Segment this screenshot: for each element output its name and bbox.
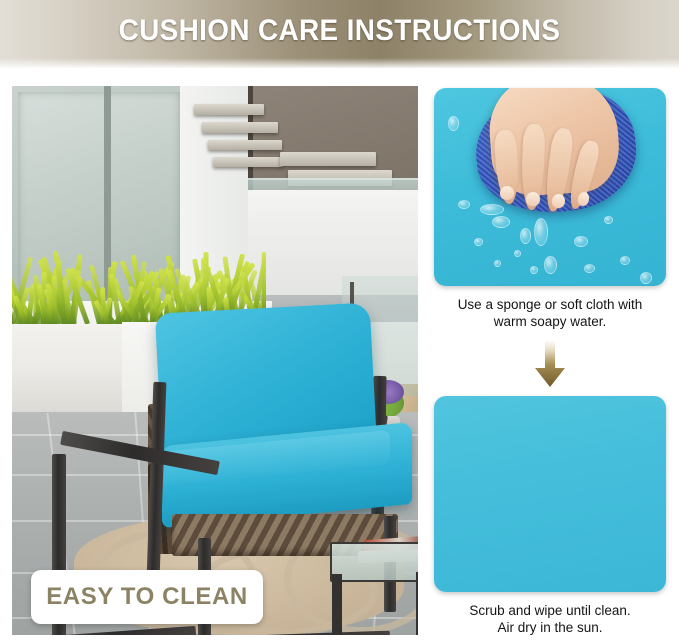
- water-droplet: [620, 256, 630, 265]
- step-2-caption: Scrub and wipe until clean. Air dry in t…: [434, 602, 666, 636]
- water-droplet: [474, 238, 483, 246]
- glass-side-table-top: [330, 542, 418, 582]
- water-droplet: [480, 204, 504, 215]
- water-droplet: [530, 266, 538, 274]
- water-droplet: [514, 250, 521, 257]
- floating-stair-step: [194, 104, 264, 115]
- water-droplet: [534, 218, 548, 246]
- step-1-caption-line-1: Use a sponge or soft cloth with: [458, 297, 643, 312]
- fingernail: [526, 192, 540, 206]
- side-table-leg-right: [416, 572, 418, 635]
- step-2-caption-line-1: Scrub and wipe until clean.: [469, 603, 630, 618]
- water-droplet: [492, 216, 510, 228]
- page-header-banner: CUSHION CARE INSTRUCTIONS: [0, 0, 679, 68]
- water-droplet: [458, 200, 470, 209]
- floating-stair-step: [202, 122, 278, 133]
- step-1-caption: Use a sponge or soft cloth with warm soa…: [434, 296, 666, 330]
- water-droplet: [604, 216, 613, 224]
- outdoor-patio-chair-photo: [12, 86, 418, 635]
- side-table-leg-left: [332, 574, 342, 635]
- step-2-caption-line-2: Air dry in the sun.: [497, 620, 602, 635]
- clean-cushion-image: [434, 396, 666, 592]
- floating-stair-step: [213, 157, 283, 167]
- water-droplet: [574, 236, 588, 247]
- water-droplet: [640, 272, 652, 284]
- page-title: CUSHION CARE INSTRUCTIONS: [24, 0, 655, 62]
- hand-wiping-cloth-image: [434, 88, 666, 286]
- water-droplet: [584, 264, 595, 273]
- down-arrow-icon: [534, 340, 566, 388]
- water-droplet: [494, 260, 501, 267]
- water-droplet: [448, 116, 459, 131]
- water-droplet: [520, 228, 531, 244]
- floating-stair-step: [208, 140, 282, 150]
- easy-to-clean-label: EASY TO CLEAN: [46, 583, 248, 611]
- step-1-caption-line-2: warm soapy water.: [494, 314, 607, 329]
- water-droplet: [544, 256, 557, 274]
- easy-to-clean-badge: EASY TO CLEAN: [31, 570, 263, 624]
- floating-stair-step: [280, 152, 376, 166]
- down-arrow-svg: [534, 340, 566, 388]
